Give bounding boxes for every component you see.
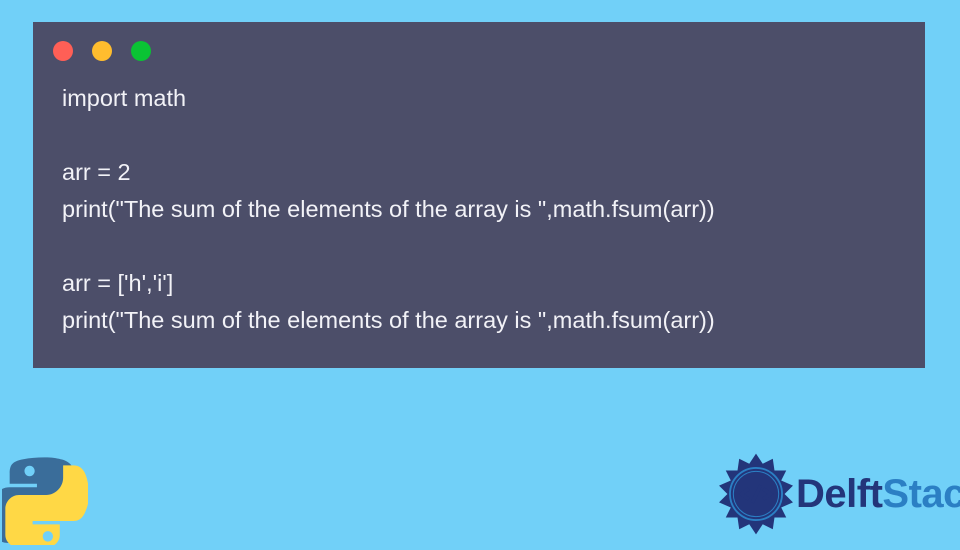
code-window: import math arr = 2 print("The sum of th… [33,22,925,368]
python-logo-icon [2,455,88,545]
code-block: import math arr = 2 print("The sum of th… [33,80,925,368]
code-line-blank [62,117,903,154]
code-line: arr = 2 [62,154,903,191]
code-line: print("The sum of the elements of the ar… [62,191,903,228]
window-close-dot[interactable] [53,41,73,61]
window-minimize-dot[interactable] [92,41,112,61]
delftstack-wordmark-stack: Stack [882,472,960,516]
code-line-blank [62,228,903,265]
window-maximize-dot[interactable] [131,41,151,61]
code-line: import math [62,80,903,117]
delftstack-emblem-icon [714,452,798,536]
code-line: print("The sum of the elements of the ar… [62,302,903,339]
python-logo [2,455,88,545]
delftstack-wordmark: DelftStack [796,474,960,514]
code-window-titlebar [33,22,925,80]
delftstack-logo: DelftStack [714,452,954,536]
code-line: arr = ['h','i'] [62,265,903,302]
delftstack-wordmark-delft: Delft [796,472,882,516]
